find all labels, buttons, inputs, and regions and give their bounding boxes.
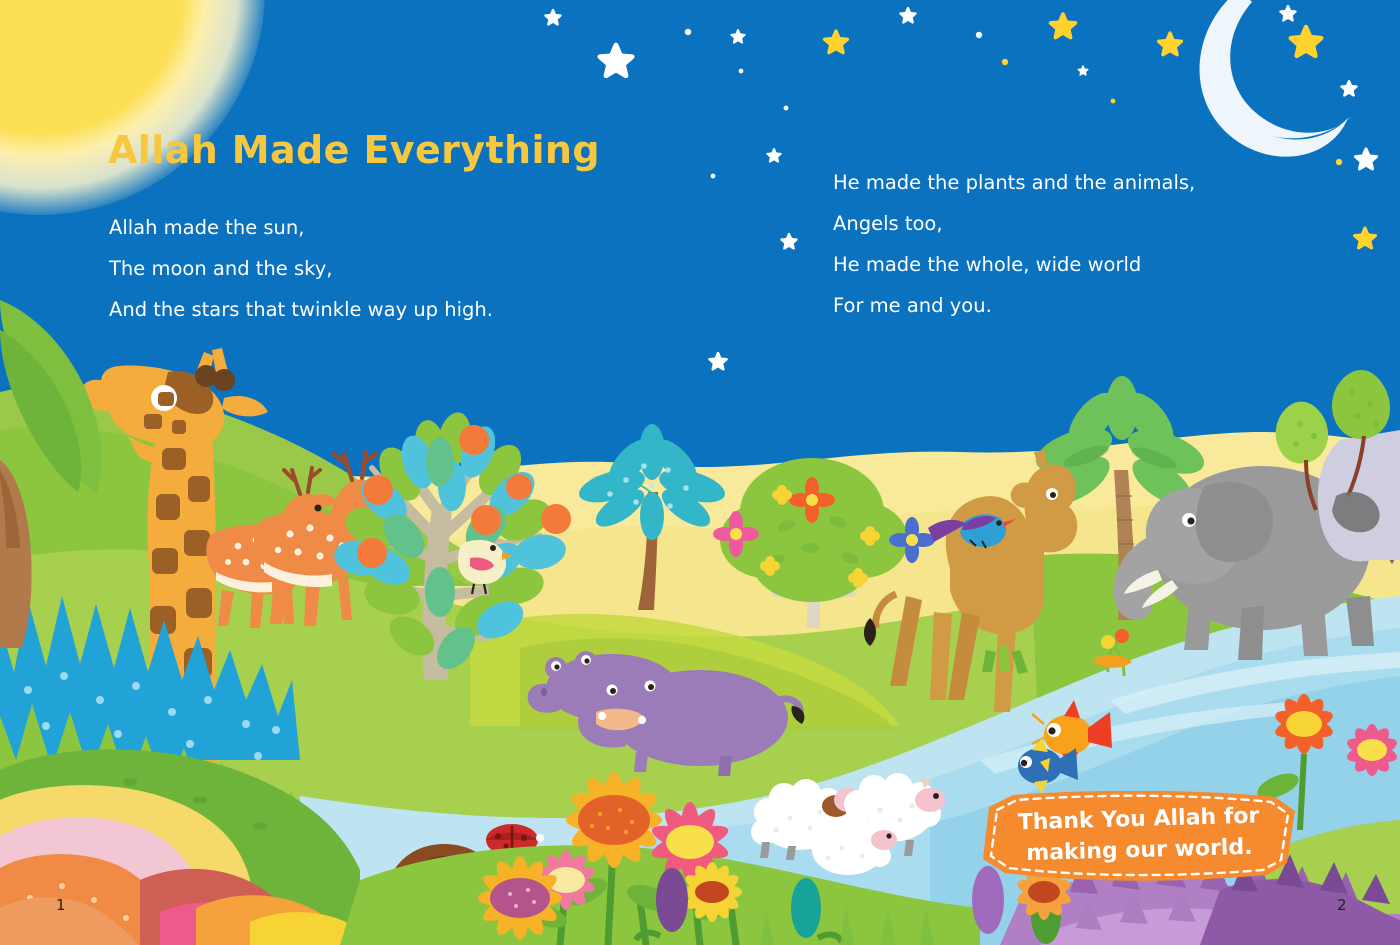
star-dot (685, 29, 691, 35)
poem-line: He made the whole, wide world (833, 244, 1195, 285)
star-dot (1111, 99, 1116, 104)
poem-line: For me and you. (833, 285, 1195, 326)
banner-text: Thank You Allah for making our world. (974, 799, 1304, 870)
star-dot (1336, 159, 1342, 165)
storybook-page: Allah Made Everything Allah made the sun… (0, 0, 1400, 945)
page-number-left: 1 (56, 896, 66, 914)
thank-you-banner: Thank You Allah for making our world. (975, 791, 1303, 881)
poem-line: Allah made the sun, (109, 207, 493, 248)
star-dot (1002, 59, 1008, 65)
star-dot (784, 106, 789, 111)
poem-line: He made the plants and the animals, (833, 162, 1195, 203)
poem-left-column: Allah made the sun, The moon and the sky… (109, 207, 493, 330)
star-dot (976, 32, 982, 38)
poem-right-column: He made the plants and the animals, Ange… (833, 162, 1195, 326)
poem-line: And the stars that twinkle way up high. (109, 289, 493, 330)
star-dot (739, 69, 744, 74)
page-number-right: 2 (1337, 896, 1347, 914)
poem-line: Angels too, (833, 203, 1195, 244)
page-title: Allah Made Everything (108, 128, 600, 172)
poem-line: The moon and the sky, (109, 248, 493, 289)
star-dot (711, 174, 716, 179)
